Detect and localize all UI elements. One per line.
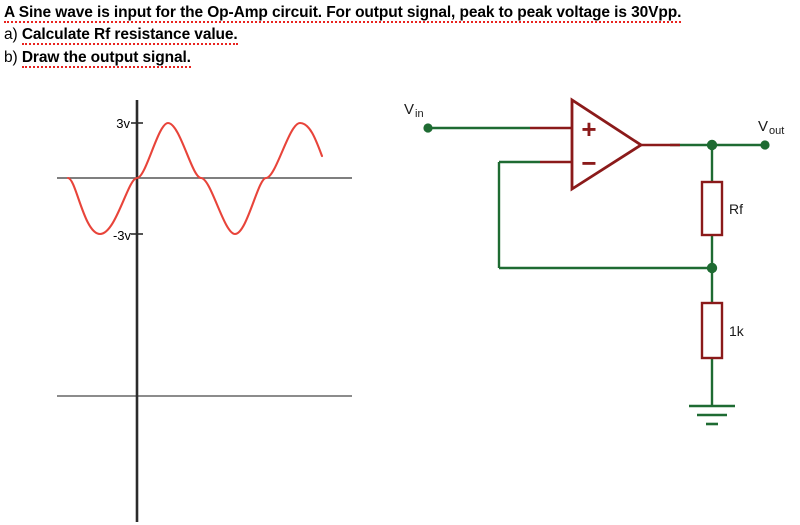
vin-terminal-label-sub: in <box>415 108 424 120</box>
vin-terminal-label-main: V <box>404 101 414 118</box>
problem-part-b-prefix: b) <box>4 49 18 66</box>
input-resistor-label: 1k <box>729 323 745 339</box>
feedback-junction-dot <box>707 263 717 273</box>
problem-statement-line: A Sine wave is input for the Op-Amp circ… <box>4 2 798 23</box>
vin-terminal-dot <box>423 123 432 132</box>
vout-terminal-label-main: V <box>758 118 768 135</box>
problem-statement-text: A Sine wave is input for the Op-Amp circ… <box>4 4 681 23</box>
vout-terminal-dot <box>760 140 769 149</box>
vout-junction-dot <box>707 140 717 150</box>
vout-terminal-label-sub: out <box>769 125 784 137</box>
opamp-minus-sign: − <box>581 148 596 178</box>
problem-part-a-prefix: a) <box>4 26 18 43</box>
problem-statement: A Sine wave is input for the Op-Amp circ… <box>4 2 798 69</box>
problem-part-a-text: Calculate Rf resistance value. <box>22 26 238 45</box>
problem-part-b: b) Draw the output signal. <box>4 46 798 69</box>
opamp-circuit-diagram: + − Rf 1k V in V out <box>390 88 800 448</box>
feedback-resistor-body <box>702 182 722 235</box>
problem-part-a: a) Calculate Rf resistance value. <box>4 23 798 46</box>
feedback-resistor-label: Rf <box>729 201 743 217</box>
sine-wave-graph: 3v -3v <box>0 88 380 525</box>
problem-part-b-text: Draw the output signal. <box>22 49 191 68</box>
input-resistor-body <box>702 303 722 358</box>
opamp-plus-sign: + <box>581 114 596 144</box>
graph-ytick-label-positive: 3v <box>116 116 130 131</box>
graph-ytick-label-negative: -3v <box>113 228 132 243</box>
